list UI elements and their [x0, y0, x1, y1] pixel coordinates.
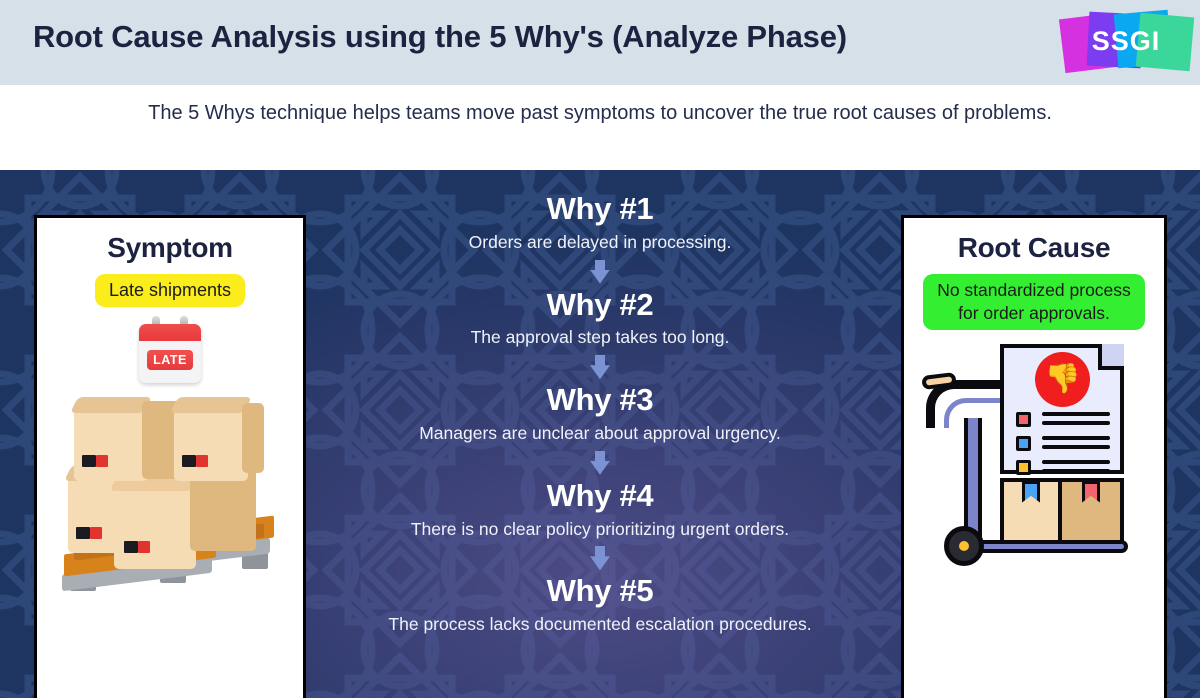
- why-step-1: Why #1 Orders are delayed in processing.: [320, 192, 880, 254]
- calendar-body: LATE: [139, 324, 201, 383]
- dolly-post: [964, 418, 982, 544]
- logo-text: SSGI: [1060, 8, 1192, 74]
- why-title: Why #3: [320, 383, 880, 418]
- box-ribbon-blue: [1022, 481, 1040, 503]
- calendar-late-label: LATE: [147, 350, 193, 370]
- document-sheet: 👎: [1000, 344, 1124, 474]
- dolly-wheel: [944, 526, 984, 566]
- box-bottom-mid: [114, 487, 196, 569]
- arrow-down-icon: [590, 451, 610, 475]
- checklist-lines-1: [1042, 412, 1110, 430]
- why-step-2: Why #2 The approval step takes too long.: [320, 288, 880, 350]
- document-fold-corner: [1098, 344, 1124, 370]
- calendar-header: [139, 324, 201, 341]
- infographic-page: Root Cause Analysis using the 5 Why's (A…: [0, 0, 1200, 698]
- symptom-title: Symptom: [37, 232, 303, 264]
- root-cause-panel: Root Cause No standardized process for o…: [901, 215, 1167, 698]
- box-top-right-top: [170, 397, 252, 413]
- checklist-box-blue: [1016, 436, 1031, 451]
- symptom-illustration: LATE: [37, 315, 303, 675]
- why-title: Why #5: [320, 574, 880, 609]
- dolly-base-bar: [966, 540, 1128, 553]
- calendar-late-icon: LATE: [139, 321, 201, 383]
- box-ribbon-red: [1082, 481, 1100, 503]
- ssgi-logo: SSGI: [1060, 8, 1192, 74]
- why-desc: Orders are delayed in processing.: [320, 232, 880, 254]
- why-title: Why #2: [320, 288, 880, 323]
- root-cause-title: Root Cause: [904, 232, 1164, 264]
- why-desc: There is no clear policy prioritizing ur…: [320, 519, 880, 541]
- root-cause-badge-line2: for order approvals.: [958, 303, 1110, 323]
- box-top-left-top: [70, 397, 152, 413]
- dolly-box-right: [1058, 478, 1124, 544]
- arrow-down-icon: [590, 260, 610, 284]
- why-step-5: Why #5 The process lacks documented esca…: [320, 574, 880, 636]
- why-desc: The process lacks documented escalation …: [320, 614, 880, 636]
- box-label: [82, 455, 108, 467]
- checklist-box-red: [1016, 412, 1031, 427]
- box-label: [182, 455, 208, 467]
- arrow-down-icon: [590, 355, 610, 379]
- root-cause-illustration: 👎: [904, 330, 1164, 690]
- box-label: [124, 541, 150, 553]
- why-desc: Managers are unclear about approval urge…: [320, 423, 880, 445]
- root-cause-badge: No standardized process for order approv…: [923, 274, 1145, 330]
- checklist-lines-3: [1042, 460, 1110, 478]
- checklist-box-yellow: [1016, 460, 1031, 475]
- dolly-wheel-hub: [959, 541, 969, 551]
- box-label: [76, 527, 102, 539]
- root-cause-badge-line1: No standardized process: [937, 280, 1131, 300]
- why-title: Why #4: [320, 479, 880, 514]
- arrow-down-icon: [590, 546, 610, 570]
- why-chain: Why #1 Orders are delayed in processing.…: [320, 192, 880, 636]
- page-title: Root Cause Analysis using the 5 Why's (A…: [33, 19, 847, 55]
- subtitle-band: The 5 Whys technique helps teams move pa…: [0, 85, 1200, 170]
- symptom-panel: Symptom Late shipments LATE: [34, 215, 306, 698]
- why-title: Why #1: [320, 192, 880, 227]
- pallet-boxes-icon: [56, 395, 284, 603]
- checklist-lines-2: [1042, 436, 1110, 454]
- why-desc: The approval step takes too long.: [320, 327, 880, 349]
- subtitle-text: The 5 Whys technique helps teams move pa…: [100, 101, 1100, 126]
- thumbs-down-icon: 👎: [1035, 352, 1090, 407]
- why-step-4: Why #4 There is no clear policy prioriti…: [320, 479, 880, 541]
- header-bar: Root Cause Analysis using the 5 Why's (A…: [0, 0, 1200, 85]
- box-top-right: [174, 409, 248, 481]
- why-step-3: Why #3 Managers are unclear about approv…: [320, 383, 880, 445]
- box-top-left: [74, 409, 148, 481]
- symptom-badge: Late shipments: [95, 274, 245, 307]
- hand-truck-document-icon: 👎: [920, 344, 1156, 584]
- dolly-box-left: [1000, 478, 1062, 544]
- body-area: Symptom Late shipments LATE: [0, 170, 1200, 698]
- box-top-right-shade: [242, 403, 264, 473]
